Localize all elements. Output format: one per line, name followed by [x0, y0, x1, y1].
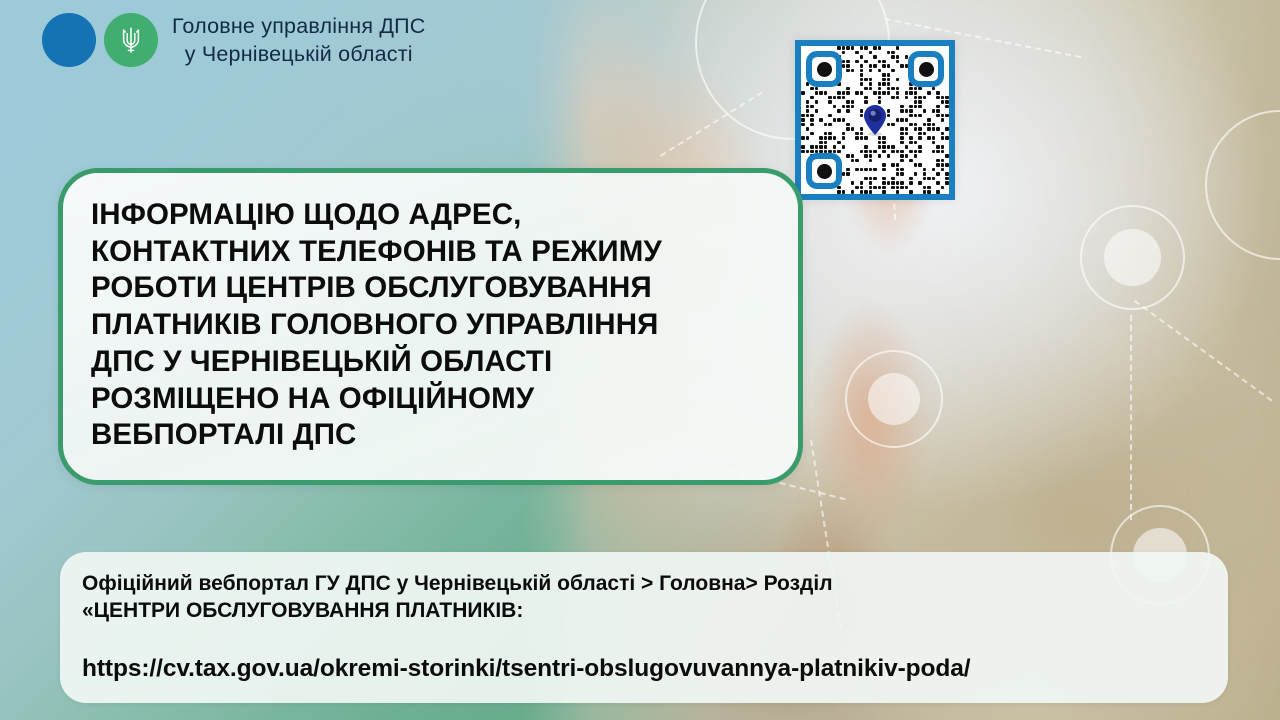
logo — [42, 13, 158, 67]
qr-finder-top-left-icon — [806, 51, 842, 87]
qr-code[interactable] — [795, 40, 955, 200]
logo-green-circle-icon — [104, 13, 158, 67]
logo-blue-circle-icon — [42, 13, 96, 67]
breadcrumb: Офіційний вебпортал ГУ ДПС у Чернівецькі… — [82, 570, 1206, 625]
source-info-card: Офіційний вебпортал ГУ ДПС у Чернівецькі… — [60, 552, 1228, 703]
qr-finder-top-right-icon — [908, 51, 944, 87]
main-message-text: ІНФОРМАЦІЮ ЩОДО АДРЕС, КОНТАКТНИХ ТЕЛЕФО… — [91, 197, 770, 454]
portal-url-link[interactable]: https://cv.tax.gov.ua/okremi-storinki/ts… — [82, 655, 1206, 683]
org-header: Головне управління ДПС у Чернівецькій об… — [42, 12, 426, 69]
decorative-ring-core — [1104, 229, 1161, 286]
decorative-ring-core — [868, 373, 921, 426]
ukraine-trident-icon — [119, 25, 143, 55]
decorative-ring — [845, 350, 943, 448]
qr-finder-bottom-left-icon — [806, 153, 842, 189]
main-message-card: ІНФОРМАЦІЮ ЩОДО АДРЕС, КОНТАКТНИХ ТЕЛЕФО… — [58, 168, 803, 485]
page-title: Головне управління ДПС у Чернівецькій об… — [172, 12, 426, 69]
decorative-ring — [1080, 205, 1185, 310]
poster-canvas: Головне управління ДПС у Чернівецькій об… — [0, 0, 1280, 720]
decorative-connector — [1130, 315, 1132, 520]
decorative-connector — [1134, 300, 1273, 402]
map-pin-icon — [862, 104, 888, 136]
qr-code-inner — [801, 46, 949, 194]
decorative-ring — [1205, 110, 1280, 260]
